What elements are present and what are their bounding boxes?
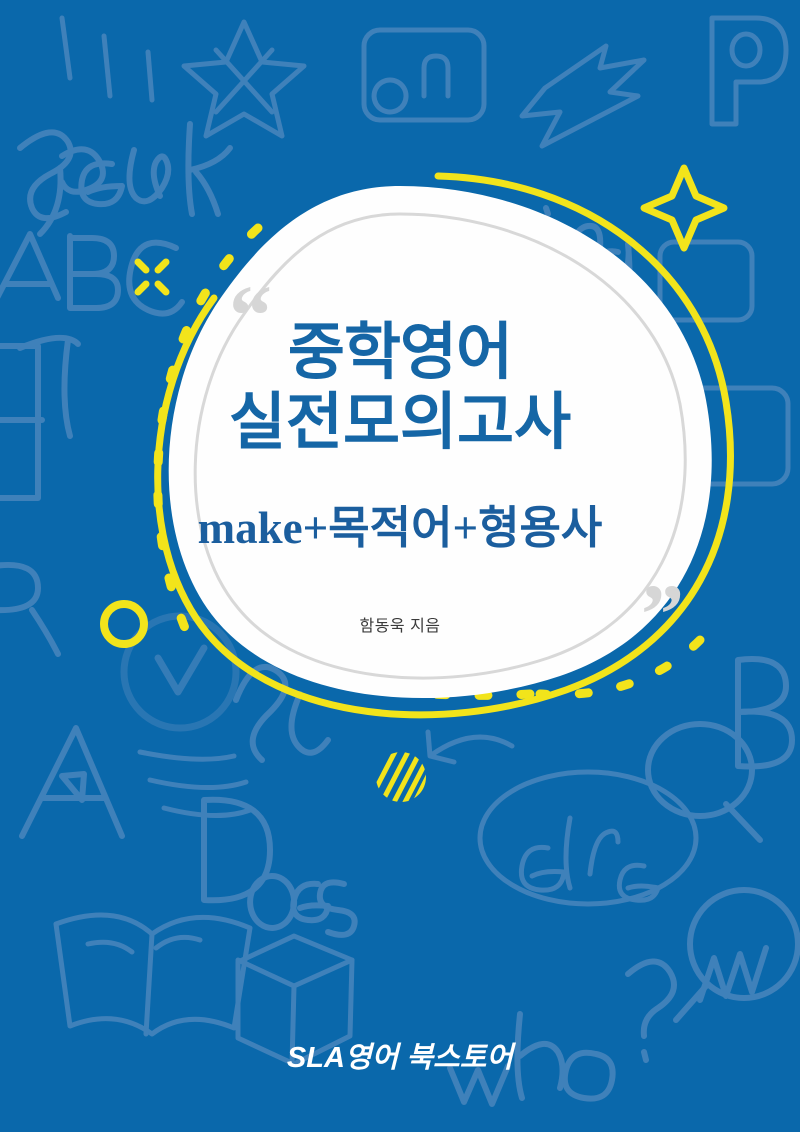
white-blob-panel [0,0,800,1132]
book-cover: “ ” 중학영어 실전모의고사 make+목적어+형용사 함동욱 지음 SLA영… [0,0,800,1132]
